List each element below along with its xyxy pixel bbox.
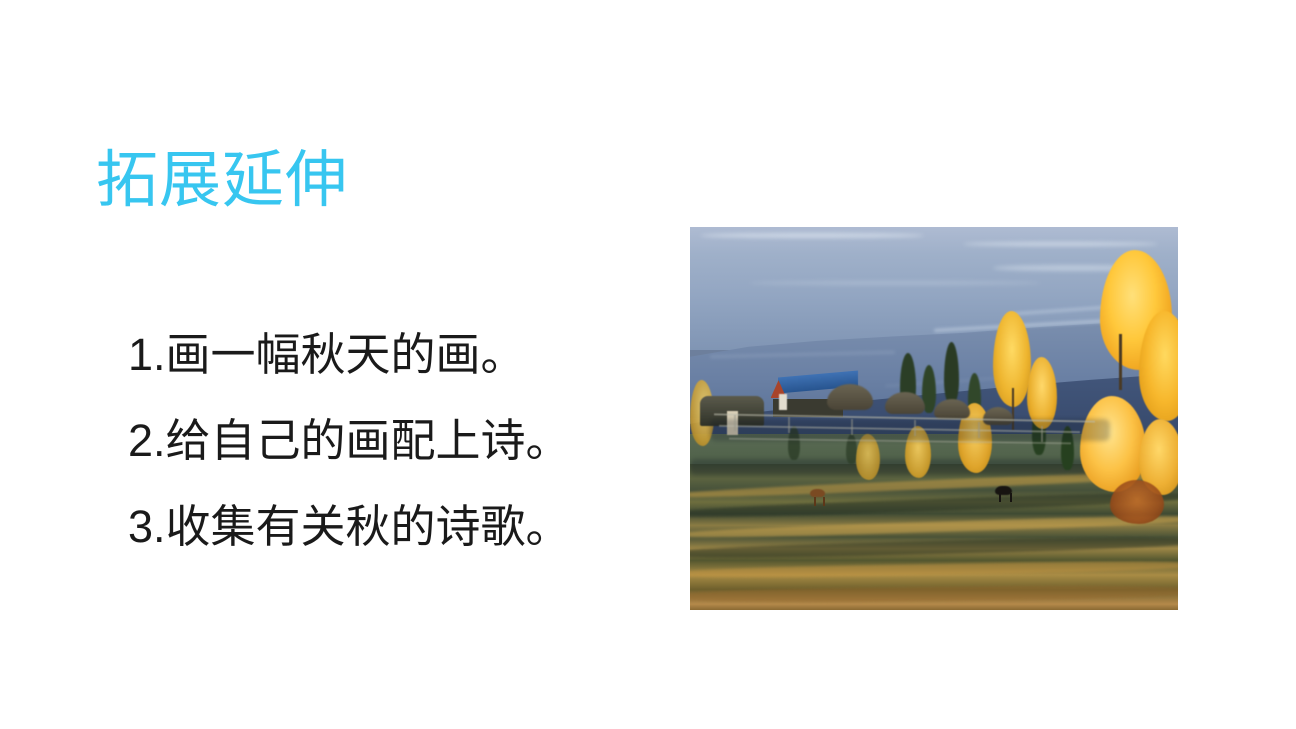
haystack [934,399,970,419]
page-title: 拓展延伸 [96,148,348,213]
fence-post [851,419,853,435]
haze-streak [700,233,924,238]
list-item: 2.给自己的画配上诗。 [128,398,571,484]
fence-post [788,417,790,433]
list-item: 3.收集有关秋的诗歌。 [128,484,571,570]
fence-post [734,415,736,431]
slide-canvas: 拓展延伸 1.画一幅秋天的画。 2.给自己的画配上诗。 3.收集有关秋的诗歌。 [0,0,1296,729]
animal-leg [1010,493,1012,502]
task-list: 1.画一幅秋天的画。 2.给自己的画配上诗。 3.收集有关秋的诗歌。 [128,312,571,570]
animal-leg [999,493,1001,502]
fence-post [978,422,980,438]
animal-leg [823,497,825,506]
autumn-village-photo [690,227,1178,610]
fence-post [1041,426,1043,442]
fence-post [914,420,916,436]
animal-leg [814,497,816,506]
cabin-chimney [779,394,787,410]
haze-streak [749,281,1042,285]
list-item: 1.画一幅秋天的画。 [128,312,571,398]
conifer-tree [944,342,959,404]
photo-frame [690,227,1178,610]
tree-trunk [1119,334,1122,390]
red-shrub [1110,480,1164,524]
